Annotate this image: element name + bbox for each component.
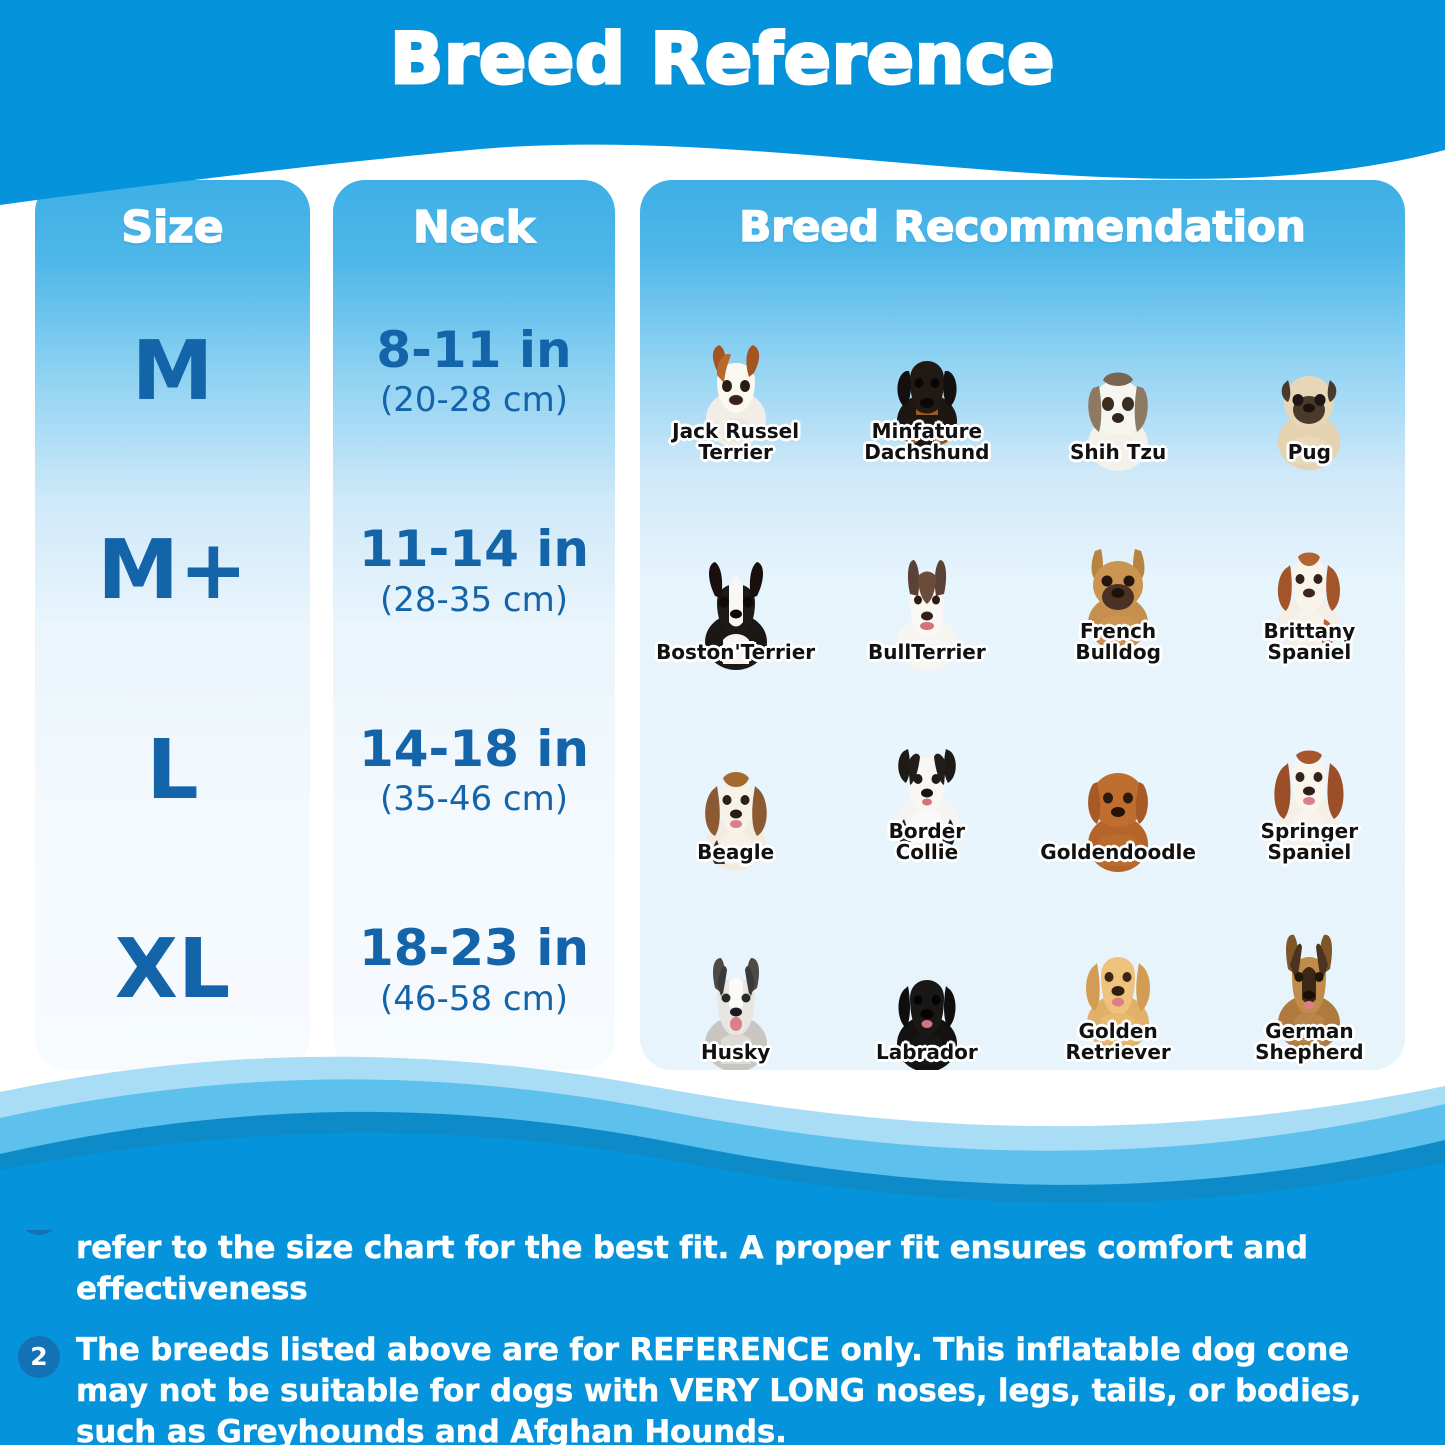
size-row: M+ — [35, 472, 310, 672]
page-title: Breed Reference — [0, 18, 1445, 100]
breed-cell: Minfature Dachshund — [831, 268, 1022, 468]
note-item: 2 The breeds listed above are for REFERE… — [18, 1330, 1415, 1445]
breed-cell: Boston'Terrier — [640, 468, 831, 668]
breed-cell: Goldendoodle — [1023, 668, 1214, 868]
neck-centimeters: (28-35 cm) — [380, 580, 568, 620]
breed-name: Jack Russel Terrier — [672, 421, 799, 462]
breed-cell: Brittany Spaniel — [1214, 468, 1405, 668]
breed-cell: Husky — [640, 868, 831, 1068]
breed-cell: Springer Spaniel — [1214, 668, 1405, 868]
breed-cell: Beagle — [640, 668, 831, 868]
breed-name: Labrador — [876, 1042, 978, 1062]
neck-inches: 14-18 in — [359, 723, 589, 776]
breed-name: Shih Tzu — [1070, 442, 1166, 462]
infographic-canvas: Breed Reference Size M M+ — [0, 0, 1445, 1445]
breed-name: BullTerrier — [868, 642, 986, 662]
size-value: L — [146, 730, 198, 812]
size-column-card: Size M M+ L XL — [35, 180, 310, 1070]
neck-row: 8-11 in (20-28 cm) — [333, 272, 615, 472]
size-value: M+ — [97, 530, 247, 612]
breed-cell: French Bulldog — [1023, 468, 1214, 668]
neck-inches: 18-23 in — [359, 922, 589, 975]
neck-centimeters: (46-58 cm) — [380, 979, 568, 1019]
size-chart-cards: Size M M+ L XL Neck 8-11 i — [0, 180, 1445, 1070]
breed-cell: Border Collie — [831, 668, 1022, 868]
breed-name: German Shepherd — [1255, 1021, 1364, 1062]
neck-row: 18-23 in (46-58 cm) — [333, 871, 615, 1071]
breed-cell: Golden Retriever — [1023, 868, 1214, 1068]
breed-name: Husky — [701, 1042, 770, 1062]
note-item: 1 Be sure to measure your dog's neck cir… — [18, 1187, 1415, 1310]
breed-name: Brittany Spaniel — [1263, 621, 1355, 662]
note-number-badge: 2 — [18, 1336, 60, 1378]
note-number-badge: 1 — [18, 1193, 60, 1235]
breed-name: Goldendoodle — [1040, 842, 1196, 862]
breed-cell: Labrador — [831, 868, 1022, 1068]
size-value: XL — [115, 929, 230, 1011]
neck-column-card: Neck 8-11 in (20-28 cm) 11-14 in (28-35 … — [333, 180, 615, 1070]
neck-row: 11-14 in (28-35 cm) — [333, 472, 615, 672]
neck-centimeters: (35-46 cm) — [380, 779, 568, 819]
size-row: XL — [35, 871, 310, 1071]
neck-inches: 8-11 in — [376, 324, 571, 377]
size-row: M — [35, 272, 310, 472]
breed-cell: German Shepherd — [1214, 868, 1405, 1068]
breed-cell: Jack Russel Terrier — [640, 268, 831, 468]
breed-cell: Pug — [1214, 268, 1405, 468]
note-text: The breeds listed above are for REFERENC… — [76, 1330, 1415, 1445]
breed-cell: Shih Tzu — [1023, 268, 1214, 468]
neck-inches: 11-14 in — [359, 523, 589, 576]
breed-name: Pug — [1288, 442, 1331, 462]
breed-cell: BullTerrier — [831, 468, 1022, 668]
footer-notes: 1 Be sure to measure your dog's neck cir… — [0, 1165, 1445, 1445]
breed-name: Golden Retriever — [1065, 1021, 1170, 1062]
breed-name: Minfature Dachshund — [864, 421, 989, 462]
breed-column-card: Breed Recommendation — [640, 180, 1405, 1070]
breed-name: Boston'Terrier — [656, 642, 815, 662]
breed-grid: Jack Russel Terrier — [640, 268, 1405, 1068]
breed-name: Beagle — [697, 842, 774, 862]
breed-name: Springer Spaniel — [1261, 821, 1358, 862]
size-row: L — [35, 671, 310, 871]
breed-name: French Bulldog — [1075, 621, 1161, 662]
neck-row: 14-18 in (35-46 cm) — [333, 671, 615, 871]
size-value: M — [132, 331, 214, 413]
note-text: Be sure to measure your dog's neck circu… — [76, 1187, 1415, 1310]
size-values-list: M M+ L XL — [35, 272, 310, 1070]
neck-values-list: 8-11 in (20-28 cm) 11-14 in (28-35 cm) 1… — [333, 272, 615, 1070]
breed-name: Border Collie — [889, 821, 966, 862]
neck-centimeters: (20-28 cm) — [380, 380, 568, 420]
